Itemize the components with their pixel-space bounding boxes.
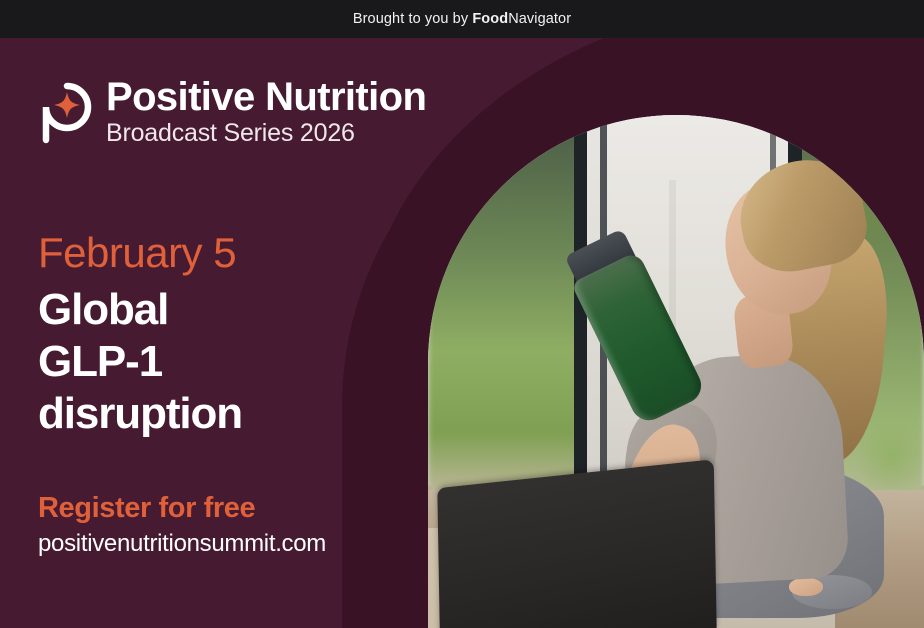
logo-lockup: Positive Nutrition Broadcast Series 2026 [38,76,426,148]
sponsor-bar: Brought to you by FoodNavigator [0,0,924,38]
laptop [437,459,716,628]
event-title-line: Global [38,284,242,336]
event-title-line: GLP-1 [38,336,242,388]
logo-subtitle: Broadcast Series 2026 [106,119,355,147]
event-title: Global GLP-1 disruption [38,284,242,440]
promo-banner: Brought to you by FoodNavigator [0,0,924,628]
register-cta-label[interactable]: Register for free [38,490,326,526]
content-column: Positive Nutrition Broadcast Series 2026… [0,38,360,628]
green-smoothie-bottle [571,250,708,426]
logo-title: Positive Nutrition [106,75,426,119]
logo-text-block: Positive Nutrition Broadcast Series 2026 [106,76,426,148]
bottle-body [571,250,708,426]
positive-nutrition-logo-icon [38,82,96,144]
event-title-line: disruption [38,388,242,440]
cta-block[interactable]: Register for free positivenutritionsummi… [38,490,326,560]
registration-url[interactable]: positivenutritionsummit.com [38,528,326,560]
banner-stage: Positive Nutrition Broadcast Series 2026… [0,38,924,628]
hero-photo [428,115,924,628]
sponsor-text: Brought to you by FoodNavigator [353,11,571,27]
sponsor-prefix: Brought to you by [353,11,473,27]
headline-block: February 5 Global GLP-1 disruption [38,228,242,440]
hero-photo-arch [428,115,924,628]
sponsor-brand-rest: Navigator [508,11,571,27]
resting-hand [789,578,823,596]
sponsor-brand-bold: Food [472,11,508,27]
event-date: February 5 [38,228,242,278]
